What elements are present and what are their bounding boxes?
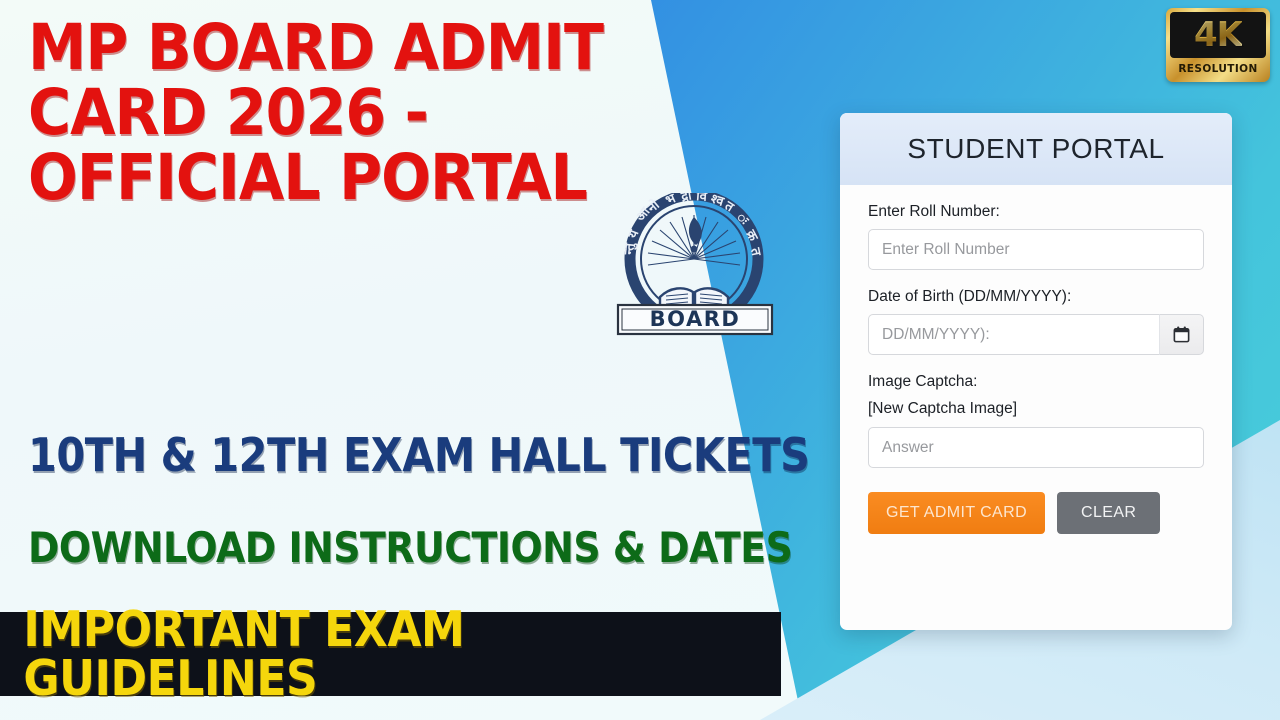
student-portal-header: STUDENT PORTAL [840,113,1232,185]
mp-board-logo: आ नो भ द्रा वि श्व त ः क्र त य न्तु [600,193,792,345]
captcha-answer-input[interactable] [868,427,1204,468]
date-picker-button[interactable] [1159,314,1204,355]
roll-number-label: Enter Roll Number: [868,203,1204,221]
resolution-badge: 4K RESOLUTION [1166,8,1270,82]
page-title: STUDENT PORTAL [907,133,1164,165]
headline-block: MP BOARD ADMIT CARD 2026 - OFFICIAL PORT… [28,16,668,211]
roll-number-input[interactable] [868,229,1204,270]
headline-line-1: MP BOARD ADMIT [28,16,623,81]
date-of-birth-label: Date of Birth (DD/MM/YYYY): [868,288,1204,306]
resolution-badge-inner: 4K [1170,12,1266,58]
guidelines-banner-text: IMPORTANT EXAM GUIDELINES [0,605,703,703]
captcha-image-placeholder[interactable]: [New Captcha Image] [868,400,1204,418]
student-portal-form: Enter Roll Number: Date of Birth (DD/MM/… [840,185,1232,534]
date-of-birth-field-group [868,314,1204,355]
clear-button[interactable]: CLEAR [1057,492,1160,534]
form-button-row: GET ADMIT CARD CLEAR [868,492,1204,534]
get-admit-card-button[interactable]: GET ADMIT CARD [868,492,1045,534]
svg-text:द्रा: द्रा [679,193,693,205]
resolution-label: RESOLUTION [1178,58,1257,80]
guidelines-banner: IMPORTANT EXAM GUIDELINES [0,612,781,696]
spacer [868,270,1204,288]
headline-line-3: OFFICIAL PORTAL [28,146,623,211]
headline-line-2: CARD 2026 - [28,81,623,146]
svg-text:BOARD: BOARD [650,307,741,331]
svg-text:वि: वि [695,193,708,205]
date-of-birth-input[interactable] [868,314,1159,355]
subhead-exam-tickets: 10TH & 12TH EXAM HALL TICKETS [28,432,809,478]
resolution-value: 4K [1194,18,1242,52]
seal-board-plate: BOARD [618,305,772,334]
student-portal-card: STUDENT PORTAL Enter Roll Number: Date o… [840,113,1232,630]
calendar-icon [1172,325,1191,344]
image-captcha-label: Image Captcha: [868,373,1204,391]
spacer [868,355,1204,373]
subhead-download-info: DOWNLOAD INSTRUCTIONS & DATES [28,527,792,569]
